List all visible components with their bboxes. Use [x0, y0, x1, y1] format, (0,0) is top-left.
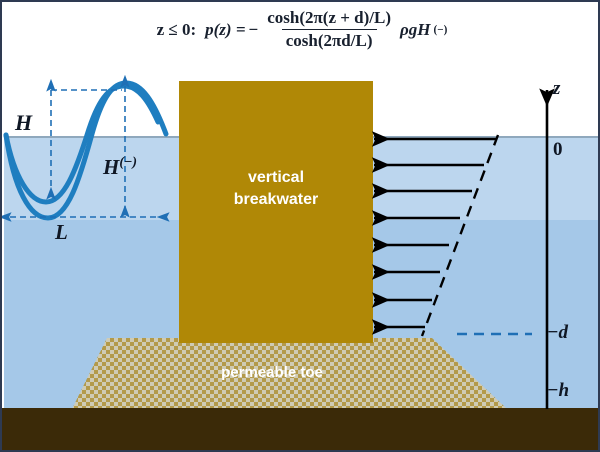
label-wave-height-minus: H(−) [103, 154, 137, 180]
label-wavelength: L [55, 220, 68, 245]
equation-sign: − [249, 20, 259, 40]
equation-denominator: cosh(2πd/L) [282, 29, 377, 51]
label-wave-height-minus-base: H [103, 155, 119, 179]
label-wave-height-minus-sup: (−) [119, 154, 137, 169]
figure-canvas: vertical breakwater permeable toe [0, 0, 600, 452]
label-wave-height: H [15, 110, 32, 136]
equation-trailing: ρgH [400, 20, 430, 40]
pressure-equation: z ≤ 0: p(z) = − cosh(2π(z + d)/L) cosh(2… [2, 8, 600, 51]
equation-numerator: cosh(2π(z + d)/L) [263, 8, 395, 29]
label-axis-minus-h: −h [547, 380, 569, 402]
wave-curve-small [6, 86, 158, 202]
equation-condition: z ≤ 0: [157, 20, 197, 40]
equation-trailing-superscript: (−) [434, 24, 448, 36]
equation-lhs: p(z) = [205, 20, 245, 40]
equation-fraction: cosh(2π(z + d)/L) cosh(2πd/L) [263, 8, 395, 51]
vector-overlay [2, 2, 600, 452]
label-axis-minus-d: −d [547, 322, 568, 344]
wave-curve-large [6, 83, 166, 218]
label-axis-z: z [553, 78, 560, 100]
label-axis-zero: 0 [553, 139, 563, 161]
